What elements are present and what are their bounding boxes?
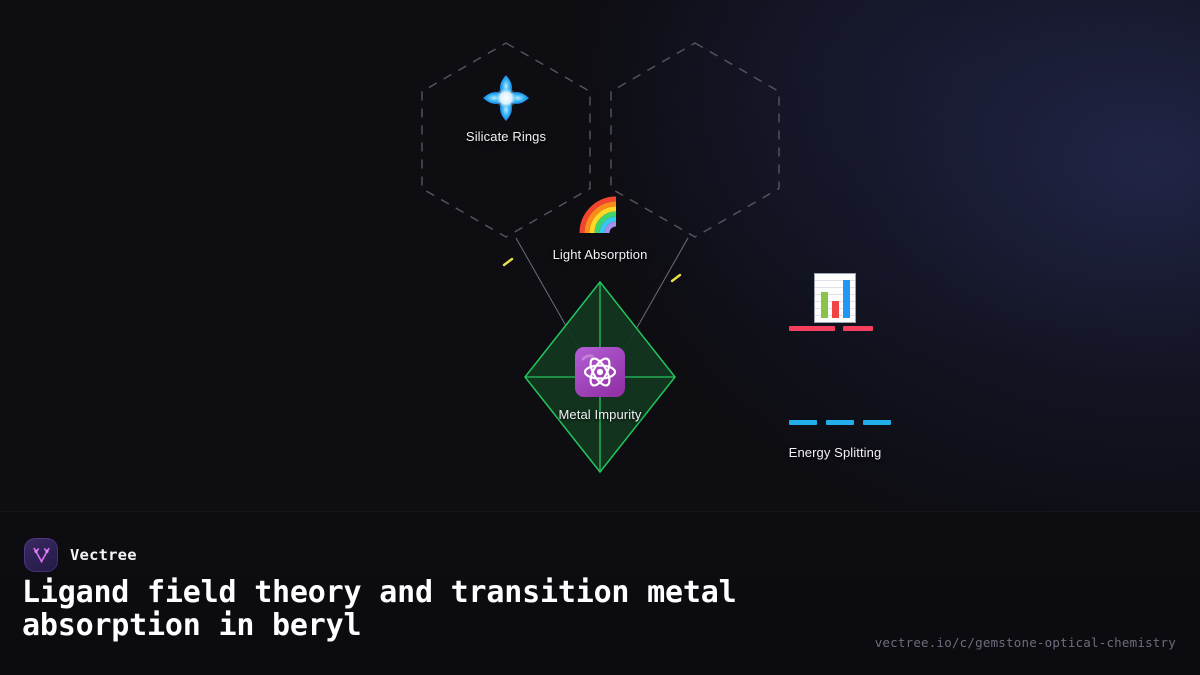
brand-name: Vectree	[70, 546, 137, 564]
spark-dash-right	[672, 275, 680, 281]
brand[interactable]: Vectree	[24, 538, 137, 572]
energy-level-bar	[826, 420, 854, 425]
energy-level-bar	[789, 420, 817, 425]
energy-levels-icon[interactable]	[789, 420, 891, 425]
vectree-logo-icon	[24, 538, 58, 572]
chart-bar-red	[832, 301, 839, 318]
absorption-band-bar	[789, 326, 835, 331]
screenshot-root: Silicate Rings Light Absorption Metal Im…	[0, 0, 1200, 675]
source-url: vectree.io/c/gemstone-optical-chemistry	[875, 635, 1176, 650]
node-label-metal-impurity: Metal Impurity	[558, 407, 641, 422]
energy-level-bar	[863, 420, 891, 425]
node-label-energy-splitting: Energy Splitting	[789, 445, 882, 460]
spark-dash-left	[504, 259, 512, 265]
hexagon-secondary	[611, 43, 779, 237]
atom-icon[interactable]	[575, 347, 625, 397]
chart-bar-blue	[843, 280, 850, 318]
node-label-light-absorption: Light Absorption	[553, 247, 648, 262]
node-label-silicate-rings: Silicate Rings	[466, 129, 546, 144]
absorption-band-levels	[789, 326, 873, 331]
rainbow-icon[interactable]	[578, 191, 622, 235]
graph-canvas[interactable]: Silicate Rings Light Absorption Metal Im…	[0, 0, 1200, 512]
page-title: Ligand field theory and transition metal…	[22, 576, 822, 642]
flower-sparkle-icon[interactable]	[480, 72, 532, 124]
absorption-band-bar	[843, 326, 873, 331]
bar-chart-icon[interactable]	[814, 273, 856, 323]
footer-bar: Vectree Ligand field theory and transiti…	[0, 511, 1200, 675]
chart-bar-green	[821, 292, 828, 318]
